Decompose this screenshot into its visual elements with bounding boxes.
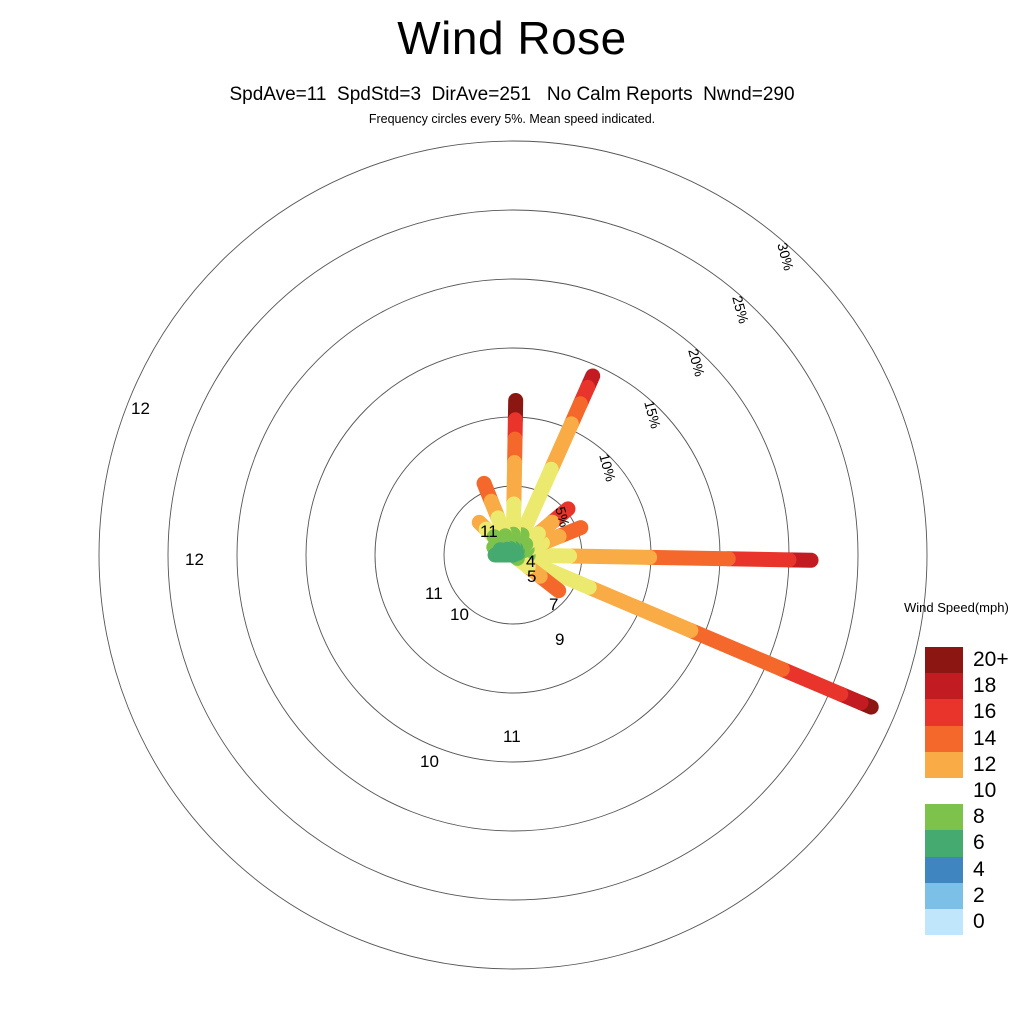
legend-row: 20+ bbox=[925, 647, 1019, 673]
legend-swatch bbox=[925, 883, 963, 909]
petal-segment bbox=[650, 557, 729, 558]
legend-label: 8 bbox=[973, 805, 1019, 829]
legend-row: 14 bbox=[925, 726, 1019, 752]
petal-segment bbox=[570, 556, 650, 557]
petal-label-e: 4 bbox=[526, 552, 535, 572]
petal-label-wnw: 12 bbox=[131, 399, 150, 419]
petal-label-se: 7 bbox=[549, 595, 558, 615]
legend-swatch bbox=[925, 726, 963, 752]
legend-label: 0 bbox=[973, 910, 1019, 934]
petal-segment bbox=[782, 669, 840, 694]
legend-swatch bbox=[925, 857, 963, 883]
legend-label: 20+ bbox=[973, 648, 1019, 672]
legend-swatch bbox=[925, 647, 963, 673]
legend-row: 8 bbox=[925, 804, 1019, 830]
legend-label: 2 bbox=[973, 884, 1019, 908]
legend-row: 16 bbox=[925, 699, 1019, 725]
petal-segment bbox=[691, 630, 782, 669]
wind-rose-page: Wind Rose SpdAve=11 SpdStd=3 DirAve=251 … bbox=[0, 0, 1024, 1024]
petal-segment bbox=[589, 587, 691, 630]
petal-segment bbox=[728, 559, 789, 560]
legend-row: 0 bbox=[925, 909, 1019, 935]
petal-wnw bbox=[513, 555, 871, 707]
legend-swatch bbox=[925, 752, 963, 778]
legend-row: 2 bbox=[925, 883, 1019, 909]
legend-swatch bbox=[925, 909, 963, 935]
legend-label: 4 bbox=[973, 858, 1019, 882]
legend-row: 10 bbox=[925, 778, 1019, 804]
petal-w bbox=[513, 555, 811, 560]
legend-label: 14 bbox=[973, 727, 1019, 751]
legend-row: 18 bbox=[925, 673, 1019, 699]
legend-swatch bbox=[925, 830, 963, 856]
legend-label: 12 bbox=[973, 753, 1019, 777]
petal-label-s: 11 bbox=[503, 727, 521, 747]
petal-label-w: 12 bbox=[185, 550, 204, 570]
legend-row: 6 bbox=[925, 830, 1019, 856]
legend-label: 18 bbox=[973, 674, 1019, 698]
petal-group bbox=[479, 376, 871, 707]
legend-row: 4 bbox=[925, 857, 1019, 883]
petal-s bbox=[513, 400, 516, 555]
legend: Wind Speed(mph) 20+181614121086420 bbox=[900, 600, 1024, 615]
wind-rose-plot bbox=[0, 0, 1024, 1024]
legend-label: 6 bbox=[973, 831, 1019, 855]
legend-label: 16 bbox=[973, 700, 1019, 724]
legend-swatch bbox=[925, 804, 963, 830]
legend-label: 10 bbox=[973, 779, 1019, 803]
legend-swatch bbox=[925, 778, 963, 804]
legend-row: 12 bbox=[925, 752, 1019, 778]
petal-label-nw: 11 bbox=[480, 522, 498, 542]
petal-label-sw: 10 bbox=[450, 605, 469, 625]
petal-label-wsw: 11 bbox=[425, 584, 443, 604]
legend-swatch bbox=[925, 699, 963, 725]
legend-entries: 20+181614121086420 bbox=[925, 647, 1019, 935]
legend-title: Wind Speed(mph) bbox=[904, 600, 1024, 615]
petal-label-sse: 9 bbox=[555, 630, 564, 650]
petal-label-ssw: 10 bbox=[420, 752, 439, 772]
legend-swatch bbox=[925, 673, 963, 699]
